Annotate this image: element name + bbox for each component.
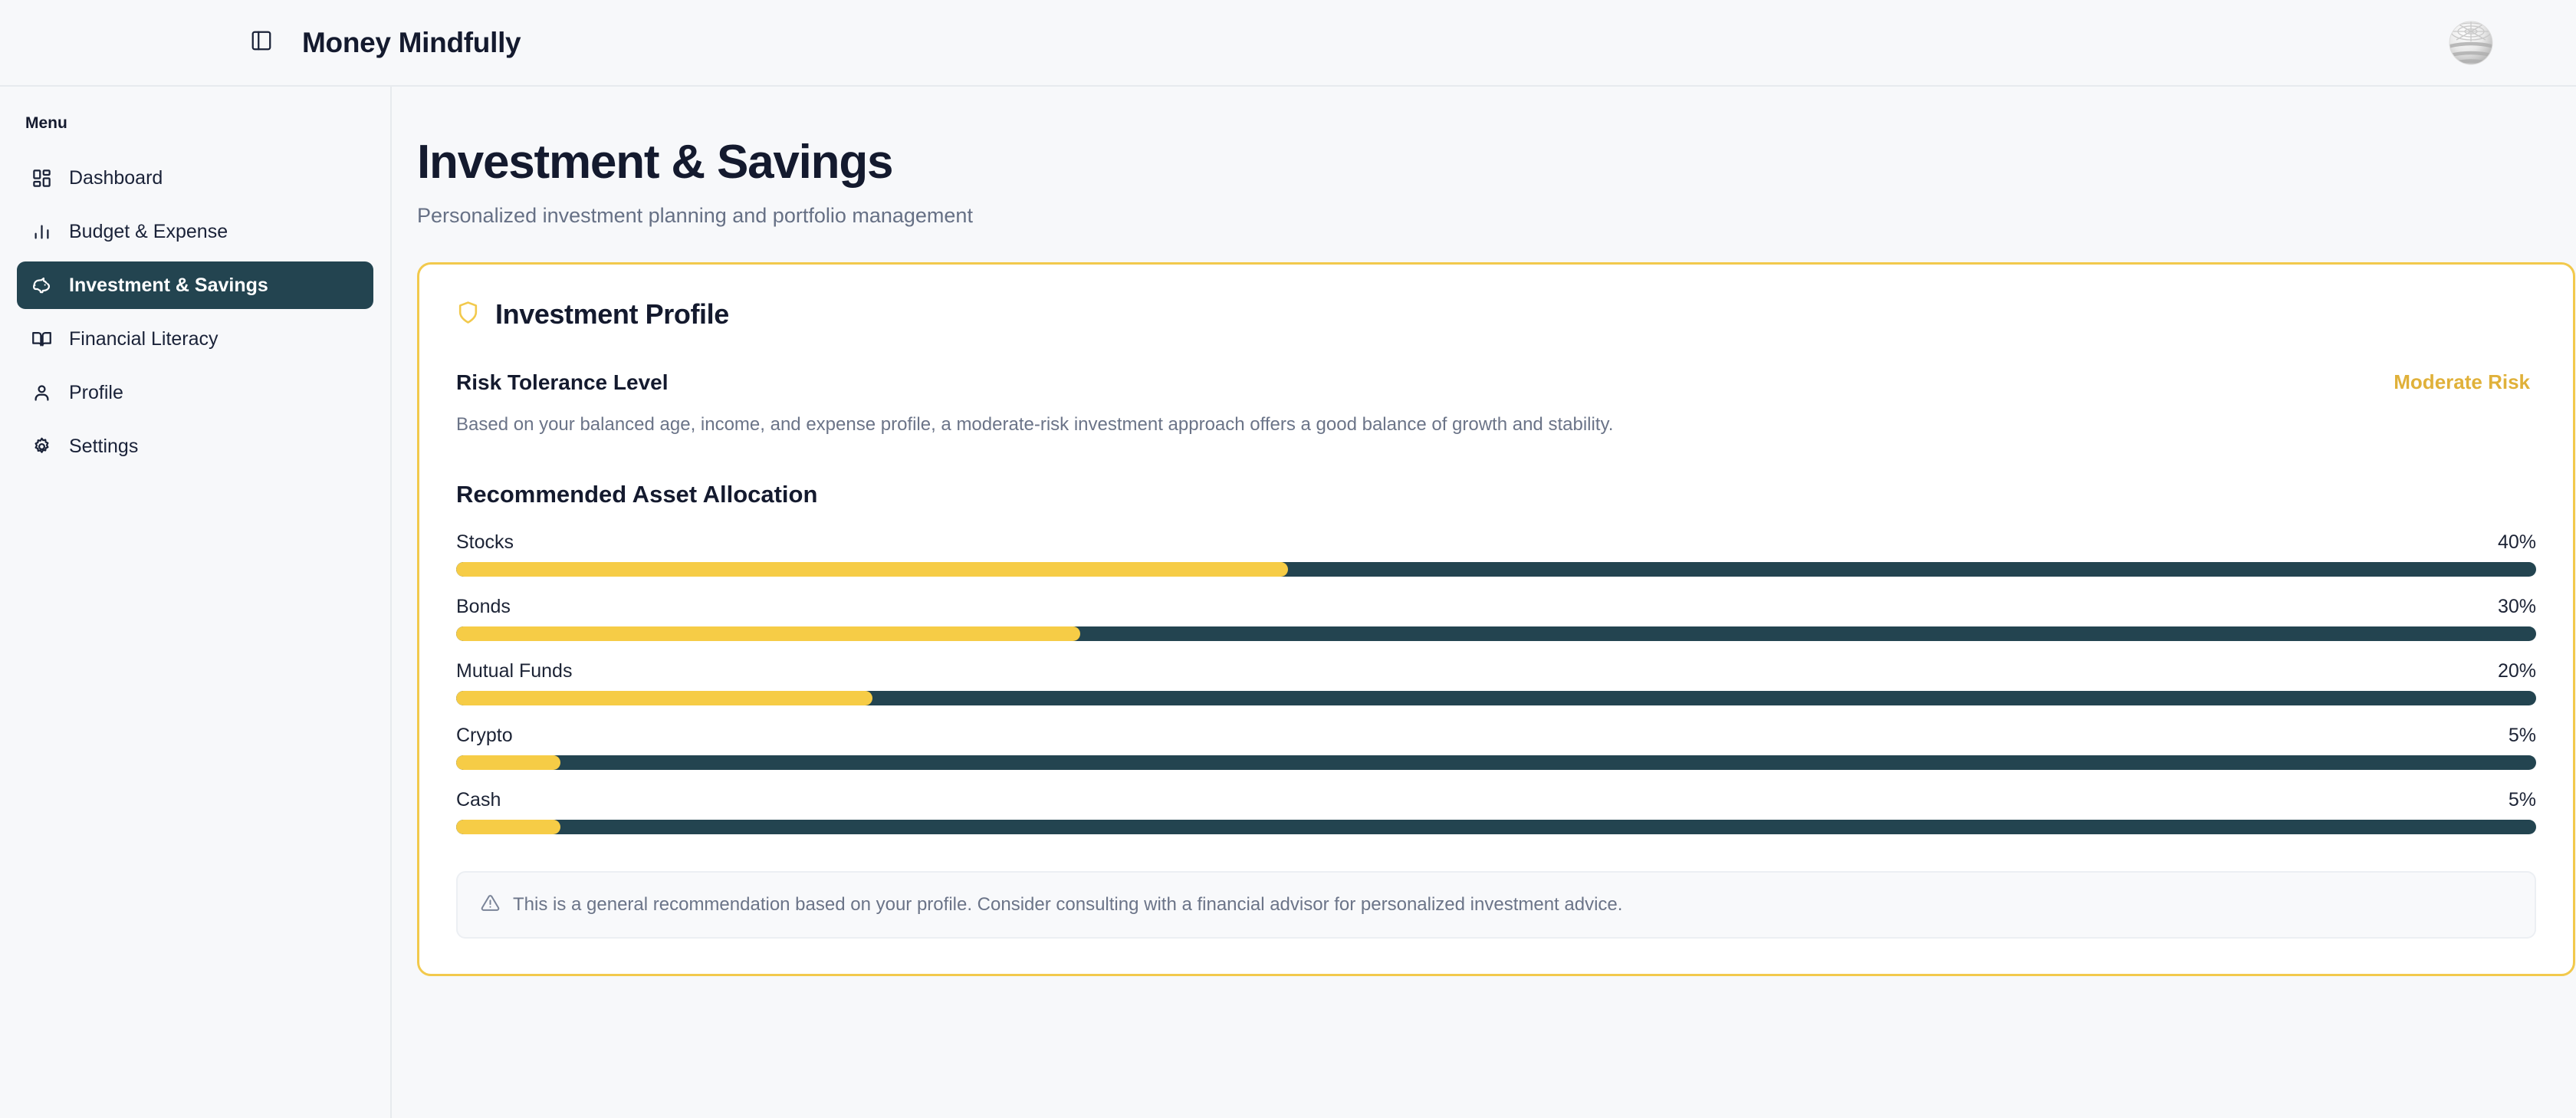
sidebar-section-label: Menu xyxy=(0,114,390,133)
allocation-percent: 40% xyxy=(2498,531,2536,554)
layout-dashboard-icon xyxy=(28,164,55,192)
allocation-row: Crypto 5% xyxy=(456,725,2536,770)
sidebar-item-label: Budget & Expense xyxy=(69,221,228,243)
top-header-bar: Money Mindfully xyxy=(0,0,2576,87)
asset-allocation-heading: Recommended Asset Allocation xyxy=(456,481,2536,508)
panel-left-icon xyxy=(250,29,273,56)
allocation-row: Mutual Funds 20% xyxy=(456,660,2536,705)
allocation-progress-track xyxy=(456,626,2536,641)
sidebar-item-label: Profile xyxy=(69,382,123,404)
allocation-progress-track xyxy=(456,562,2536,577)
alert-triangle-icon xyxy=(481,893,500,916)
allocation-percent: 30% xyxy=(2498,596,2536,618)
bar-chart-icon xyxy=(28,218,55,245)
page-subtitle: Personalized investment planning and por… xyxy=(417,204,2493,228)
card-header: Investment Profile xyxy=(456,298,2536,330)
sidebar-item-settings[interactable]: Settings xyxy=(17,423,373,470)
allocation-progress-fill xyxy=(456,755,560,770)
user-avatar-sphere xyxy=(2446,18,2496,68)
avatar[interactable] xyxy=(2446,18,2496,68)
investment-profile-card: Investment Profile Risk Tolerance Level … xyxy=(417,262,2575,976)
gear-icon xyxy=(28,432,55,460)
allocation-row: Stocks 40% xyxy=(456,531,2536,577)
sidebar-item-dashboard[interactable]: Dashboard xyxy=(17,154,373,202)
sidebar-item-label: Settings xyxy=(69,436,138,458)
allocation-progress-fill xyxy=(456,626,1080,641)
sidebar-item-label: Investment & Savings xyxy=(69,275,268,297)
risk-tolerance-heading: Risk Tolerance Level xyxy=(456,370,669,395)
sidebar: Menu Dashboard Budget & Expense xyxy=(0,87,392,1118)
allocation-label: Mutual Funds xyxy=(456,660,572,682)
sidebar-toggle-button[interactable] xyxy=(244,25,279,61)
risk-tolerance-description: Based on your balanced age, income, and … xyxy=(456,412,2536,438)
book-open-icon xyxy=(28,325,55,353)
allocation-progress-fill xyxy=(456,562,1288,577)
sidebar-item-label: Financial Literacy xyxy=(69,328,219,350)
allocation-percent: 5% xyxy=(2509,725,2536,747)
allocation-percent: 5% xyxy=(2509,789,2536,811)
allocation-progress-track xyxy=(456,691,2536,705)
allocation-row: Bonds 30% xyxy=(456,596,2536,641)
status-badge: Moderate Risk xyxy=(2394,370,2536,394)
risk-tolerance-row: Risk Tolerance Level Moderate Risk xyxy=(456,370,2536,395)
allocation-label: Bonds xyxy=(456,596,511,618)
card-title: Investment Profile xyxy=(495,298,729,330)
sidebar-item-budget-expense[interactable]: Budget & Expense xyxy=(17,208,373,255)
disclaimer-box: This is a general recommendation based o… xyxy=(456,871,2536,939)
allocation-label: Crypto xyxy=(456,725,513,747)
page-title: Investment & Savings xyxy=(417,137,2493,187)
disclaimer-text: This is a general recommendation based o… xyxy=(513,894,1622,916)
allocation-label: Cash xyxy=(456,789,501,811)
allocation-label: Stocks xyxy=(456,531,514,554)
main-content: Investment & Savings Personalized invest… xyxy=(392,87,2576,1118)
allocation-percent: 20% xyxy=(2498,660,2536,682)
allocation-progress-fill xyxy=(456,820,560,834)
shield-icon xyxy=(456,301,480,328)
app-title: Money Mindfully xyxy=(302,27,521,59)
allocation-progress-track xyxy=(456,820,2536,834)
piggy-bank-icon xyxy=(28,271,55,299)
allocation-progress-fill xyxy=(456,691,872,705)
allocation-row: Cash 5% xyxy=(456,789,2536,834)
sidebar-item-investment-savings[interactable]: Investment & Savings xyxy=(17,261,373,309)
sidebar-item-label: Dashboard xyxy=(69,167,163,189)
sidebar-item-financial-literacy[interactable]: Financial Literacy xyxy=(17,315,373,363)
allocation-progress-track xyxy=(456,755,2536,770)
user-icon xyxy=(28,379,55,406)
asset-allocation-list: Stocks 40% Bonds 30% Mutual Funds xyxy=(456,531,2536,834)
sidebar-item-profile[interactable]: Profile xyxy=(17,369,373,416)
